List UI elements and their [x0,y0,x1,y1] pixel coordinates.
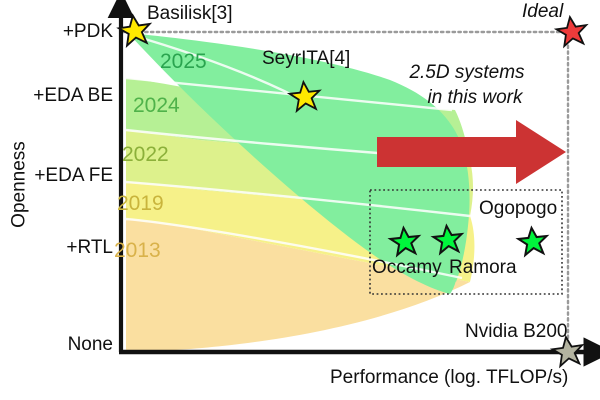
y-tick-label-none: None [68,335,113,354]
band-label-2019: 2019 [117,193,164,214]
work-annotation-line1: 2.5D systems [392,60,542,85]
point-label-seyrita: SeyrITA[4] [262,49,350,68]
y-tick-label-pdk: +PDK [63,22,113,41]
y-axis-title: Openness [10,125,29,245]
work-annotation: 2.5D systems in this work [392,60,542,110]
x-axis-title: Performance (log. TFLOP/s) [330,368,568,387]
band-label-2013: 2013 [114,240,161,261]
y-tick-label-eda-be: +EDA BE [33,86,113,105]
band-label-2024: 2024 [133,95,180,116]
band-label-2025: 2025 [160,51,207,72]
work-annotation-line2: in this work [392,85,542,110]
point-label-ideal: Ideal [522,2,563,21]
point-label-occamy: Occamy [372,258,442,277]
chart-figure: +PDK +EDA BE +EDA FE +RTL None Openness … [0,0,600,400]
point-label-basilisk: Basilisk[3] [147,4,233,23]
y-tick-label-rtl: +RTL [66,238,113,257]
y-tick-label-eda-fe: +EDA FE [34,166,113,185]
point-label-nvidia-b200: Nvidia B200 [465,322,567,341]
band-label-2022: 2022 [122,144,169,165]
point-label-ogopogo: Ogopogo [479,199,557,218]
marker-ogopogo[interactable] [517,226,548,255]
point-label-ramora: Ramora [449,258,517,277]
